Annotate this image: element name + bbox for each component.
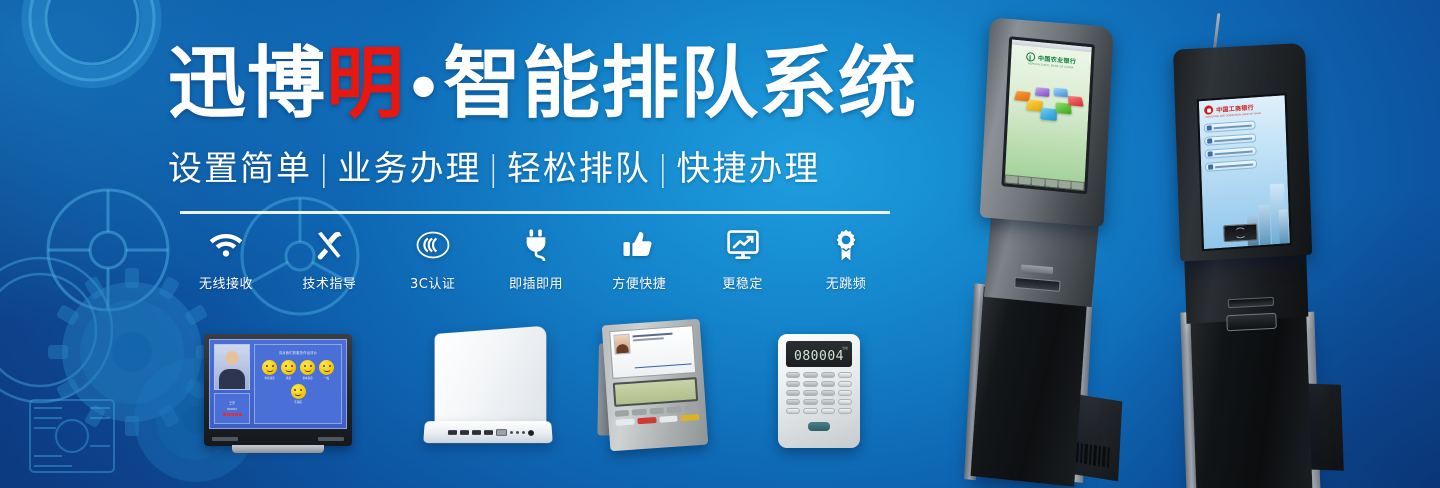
star-rating xyxy=(223,413,242,416)
router-panel xyxy=(435,326,547,426)
face-caption: 不满意 xyxy=(291,400,306,404)
keypad-shell: 当前 080004 xyxy=(778,334,860,448)
keypad-enter-key xyxy=(808,422,830,431)
menu-item[interactable] xyxy=(1204,133,1256,146)
kiosk-showcase: 中国农业银行 AGRICULTURAL BANK OF CHINA xyxy=(940,0,1440,488)
card-photo xyxy=(613,334,630,355)
face-caption: 满意 xyxy=(281,376,296,380)
monitor-screen: 王芳 000001 请对我们的服务作出评价 非常满意 满意 基本满意 一般 不满… xyxy=(209,339,347,429)
keypad-lcd: 当前 080004 xyxy=(786,341,852,367)
evaluator-id-card xyxy=(609,325,696,379)
kiosk-icbc: 中国工商银行 INDUSTRIAL AND COMMERCIAL BANK OF… xyxy=(1168,12,1334,487)
promo-banner: 迅博明•智能排队系统 设置简单|业务办理|轻松排队|快捷办理 无线接收 xyxy=(0,0,1440,488)
kiosk-tower xyxy=(971,286,1088,486)
product-showcase: 王芳 000001 请对我们的服务作出评价 非常满意 满意 基本满意 一般 不满… xyxy=(0,0,900,488)
router-ports xyxy=(448,429,544,436)
evaluator-body xyxy=(602,319,709,452)
service-tiles[interactable] xyxy=(1006,82,1089,133)
kiosk-abc: 中国农业银行 AGRICULTURAL BANK OF CHINA xyxy=(958,19,1122,486)
monitor-bezel: 王芳 000001 请对我们的服务作出评价 非常满意 满意 基本满意 一般 不满… xyxy=(204,334,352,446)
menu-item[interactable] xyxy=(1205,159,1257,172)
staff-id: 000001 xyxy=(227,407,237,411)
monitor-stand xyxy=(232,445,324,453)
product-desktop-evaluator xyxy=(602,319,709,452)
evaluation-heading: 请对我们的服务作出评价 xyxy=(279,350,317,355)
keypad-lcd-value: 080004 xyxy=(790,350,848,363)
screen-bottombar xyxy=(1005,174,1085,191)
face-option: 不满意 xyxy=(291,384,306,404)
face-caption: 基本满意 xyxy=(300,376,315,380)
card-divider xyxy=(635,363,692,373)
card-number xyxy=(633,337,664,341)
smiley-icon xyxy=(262,360,277,375)
screen-topbar xyxy=(1012,40,1092,53)
face-option: 基本满意 xyxy=(300,360,315,380)
staff-name: 王芳 xyxy=(229,401,235,405)
product-number-keypad: 当前 080004 xyxy=(778,334,860,448)
face-caption: 非常满意 xyxy=(262,376,277,380)
evaluator-keypad xyxy=(615,405,701,445)
menu-item[interactable] xyxy=(1204,120,1256,133)
service-menu[interactable] xyxy=(1204,120,1258,172)
kiosk-tower xyxy=(1190,311,1312,488)
product-evaluation-monitor: 王芳 000001 请对我们的服务作出评价 非常满意 满意 基本满意 一般 不满… xyxy=(204,334,352,446)
card-name xyxy=(632,333,672,338)
smiley-icon xyxy=(319,360,334,375)
smiley-icon xyxy=(291,384,306,399)
staff-panel: 王芳 000001 xyxy=(214,344,250,424)
face-caption: 一般 xyxy=(319,376,334,380)
monitor-buttons xyxy=(212,437,344,442)
face-option: 非常满意 xyxy=(262,360,277,380)
staff-info: 王芳 000001 xyxy=(214,393,250,424)
rfid-reader xyxy=(1223,223,1258,242)
kiosk-screen-abc[interactable]: 中国农业银行 AGRICULTURAL BANK OF CHINA xyxy=(1001,36,1095,194)
smiley-icon xyxy=(300,360,315,375)
face-option: 一般 xyxy=(319,360,334,380)
keypad-keys xyxy=(786,372,852,414)
evaluation-panel: 请对我们的服务作出评价 非常满意 满意 基本满意 一般 不满意 xyxy=(254,344,342,424)
kiosk-head: 中国农业银行 AGRICULTURAL BANK OF CHINA xyxy=(980,17,1114,226)
face-option: 满意 xyxy=(281,360,296,380)
card-info xyxy=(632,329,692,373)
menu-item[interactable] xyxy=(1205,146,1257,159)
card-reader xyxy=(1226,313,1276,332)
abc-logo-icon xyxy=(1026,52,1035,62)
face-options: 非常满意 满意 基本满意 一般 不满意 xyxy=(258,360,338,404)
smiley-icon xyxy=(281,360,296,375)
evaluator-lcd xyxy=(613,377,698,407)
staff-photo xyxy=(214,344,250,390)
icbc-logo-icon xyxy=(1204,105,1213,115)
product-wireless-router xyxy=(424,330,552,448)
